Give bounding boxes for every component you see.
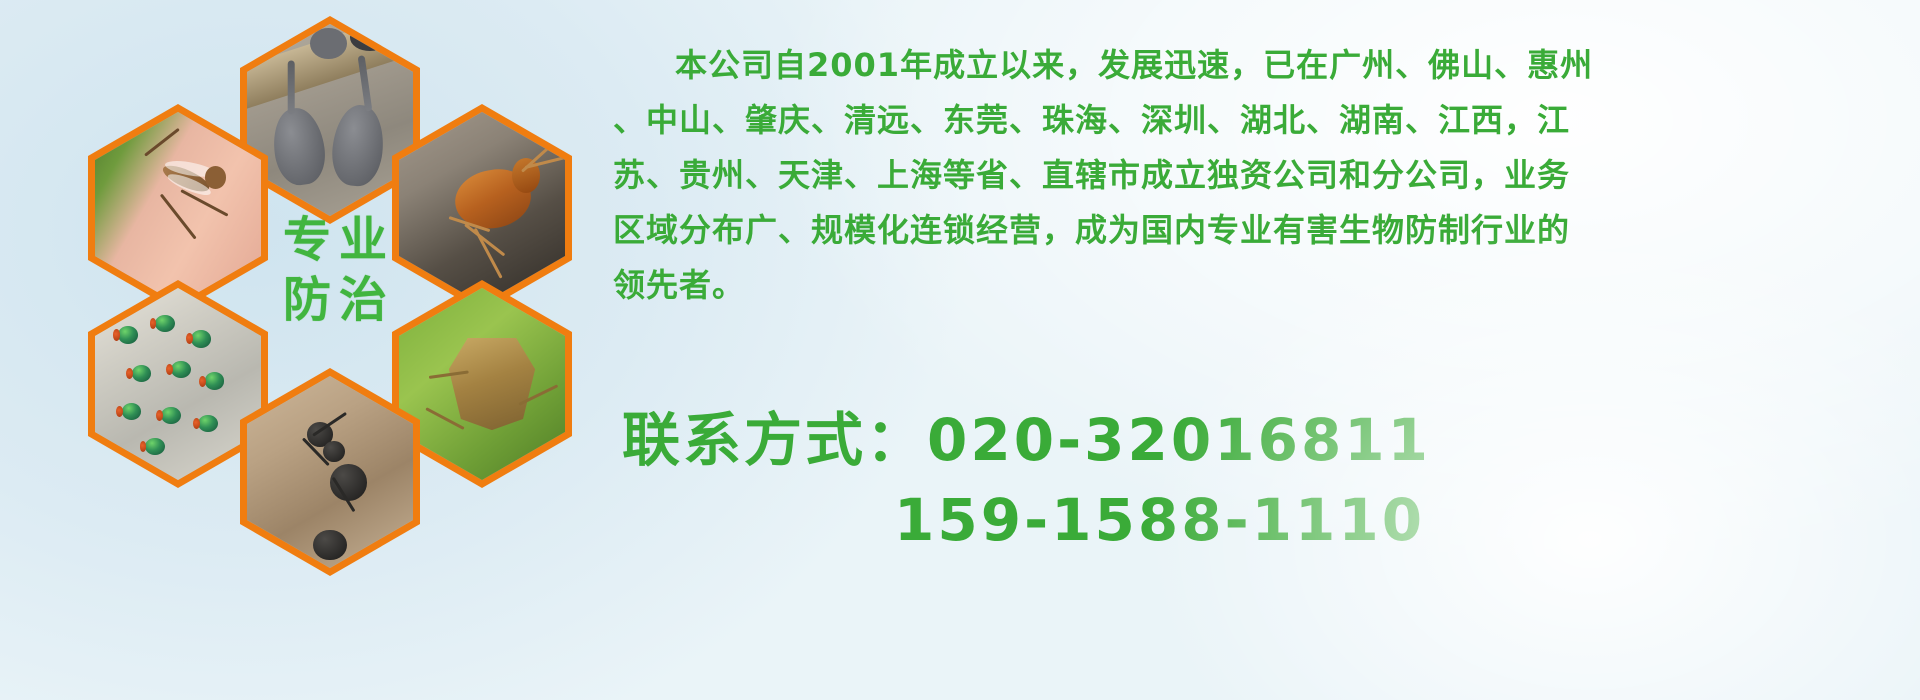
ant-photo [247, 376, 413, 568]
contact-primary-row: 联系方式：020-32016811 [622, 400, 1912, 480]
intro-line-3: 苏、贵州、天津、上海等省、直辖市成立独资公司和分公司，业务 [613, 148, 1908, 203]
slogan-badge: 专业 防治 [244, 170, 434, 370]
intro-line-4: 区域分布广、规模化连锁经营，成为国内专业有害生物防制行业的 [613, 203, 1908, 258]
honeycomb-gallery: 专业 防治 [88, 0, 608, 572]
intro-line-2: 、中山、肇庆、清远、东莞、珠海、深圳、湖北、湖南、江西，江 [613, 93, 1908, 148]
mosquito-photo [95, 112, 261, 304]
intro-line-5: 领先者。 [613, 258, 1908, 313]
contact-landline[interactable]: 020-32016811 [927, 406, 1431, 474]
company-intro-paragraph: 本公司自2001年成立以来，发展迅速，已在广州、佛山、惠州 、中山、肇庆、清远、… [613, 38, 1908, 313]
slogan-line-2: 防治 [283, 270, 395, 330]
flies-photo [95, 288, 261, 480]
intro-line-1: 本公司自2001年成立以来，发展迅速，已在广州、佛山、惠州 [613, 38, 1908, 93]
contact-block: 联系方式：020-32016811 159-1588-1110 [622, 400, 1912, 560]
contact-mobile[interactable]: 159-1588-1110 [622, 480, 1912, 560]
slogan-line-1: 专业 [283, 210, 395, 270]
banner-root: 专业 防治 本公司自2001年成立以来，发展迅速，已在广州、佛山、惠州 、中山、… [0, 0, 1920, 700]
contact-label: 联系方式： [622, 406, 927, 474]
